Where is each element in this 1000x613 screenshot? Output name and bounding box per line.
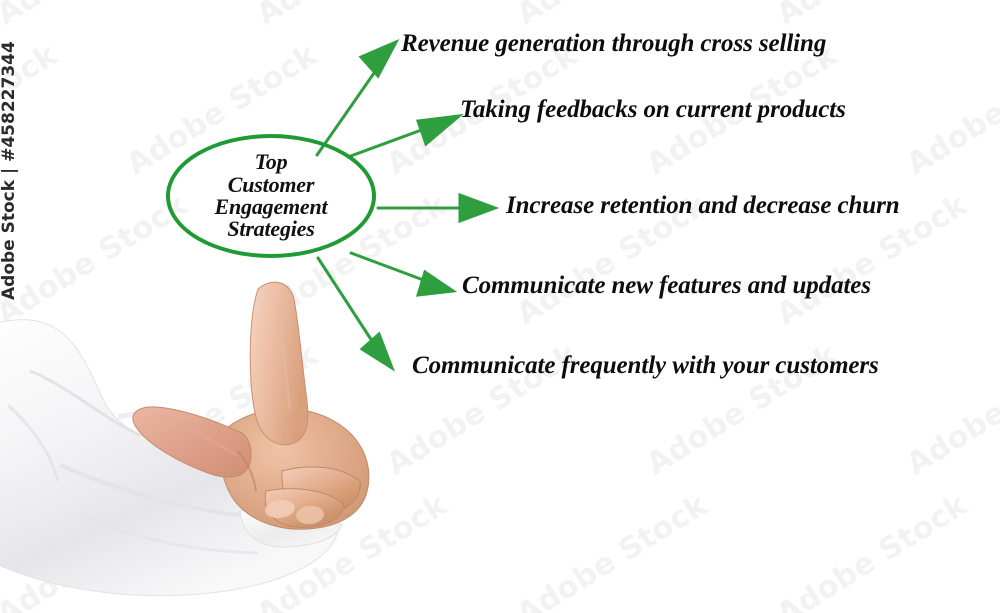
arrow-right-icon <box>378 195 495 221</box>
watermark-text: Adobe Stock <box>0 337 64 482</box>
arrow-up-right-icon <box>317 42 396 155</box>
arrow-down-right-icon <box>318 258 392 368</box>
watermark-text: Adobe Stock <box>771 0 974 32</box>
arrow-down-right-icon <box>351 253 453 295</box>
hand-pointing-up-icon <box>0 275 410 613</box>
branch-label-2[interactable]: Taking feedbacks on current products <box>460 96 846 124</box>
branch-label-3[interactable]: Increase retention and decrease churn <box>506 192 900 220</box>
watermark-text: Adobe Stock <box>0 187 194 332</box>
watermark-text: Adobe Stock <box>771 487 974 613</box>
center-node-label: Top Customer Engagement Strategies <box>215 151 328 241</box>
arrow-up-right-icon <box>348 116 459 157</box>
watermark-text: Adobe Stock <box>251 487 454 613</box>
stock-credit-watermark: Adobe Stock | #458227344 <box>0 41 19 300</box>
watermark-tiles: Adobe StockAdobe StockAdobe StockAdobe S… <box>0 0 1000 613</box>
watermark-text: Adobe Stock <box>511 0 714 32</box>
watermark-text: Adobe Stock <box>511 487 714 613</box>
watermark-text: Adobe Stock <box>121 337 324 482</box>
connector-arrows <box>0 0 1000 613</box>
watermark-text: Adobe Stock <box>0 0 194 32</box>
watermark-text: Adobe Stock <box>901 337 1000 482</box>
watermark-text: Adobe Stock <box>251 0 454 32</box>
diagram-canvas: Adobe StockAdobe StockAdobe StockAdobe S… <box>0 0 1000 613</box>
watermark-text: Adobe Stock <box>0 487 194 613</box>
watermark-text: Adobe Stock <box>901 37 1000 182</box>
branch-label-5[interactable]: Communicate frequently with your custome… <box>412 352 879 380</box>
branch-label-4[interactable]: Communicate new features and updates <box>462 272 871 300</box>
branch-label-1[interactable]: Revenue generation through cross selling <box>401 30 826 58</box>
watermark-text: Adobe Stock <box>0 37 64 182</box>
center-node-ellipse[interactable]: Top Customer Engagement Strategies <box>166 134 376 258</box>
